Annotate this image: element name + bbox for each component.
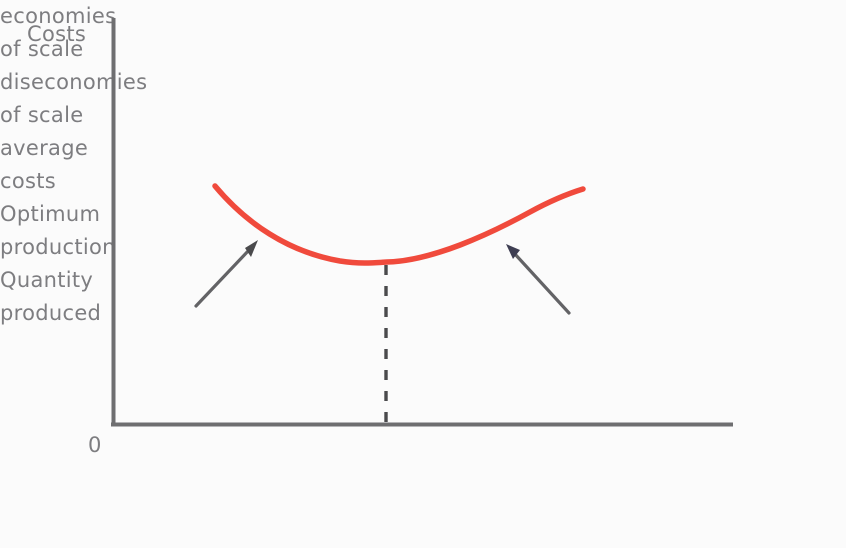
average-cost-curve [215, 186, 583, 263]
chart-canvas: Costs 0 economies of scale diseconomies … [0, 0, 846, 548]
economies-of-scale-arrow [196, 240, 258, 306]
diseconomies-of-scale-arrow [506, 244, 569, 313]
y-axis-label: Costs [27, 18, 86, 51]
chart-figure [0, 0, 846, 548]
axis-origin-label: 0 [88, 429, 102, 462]
